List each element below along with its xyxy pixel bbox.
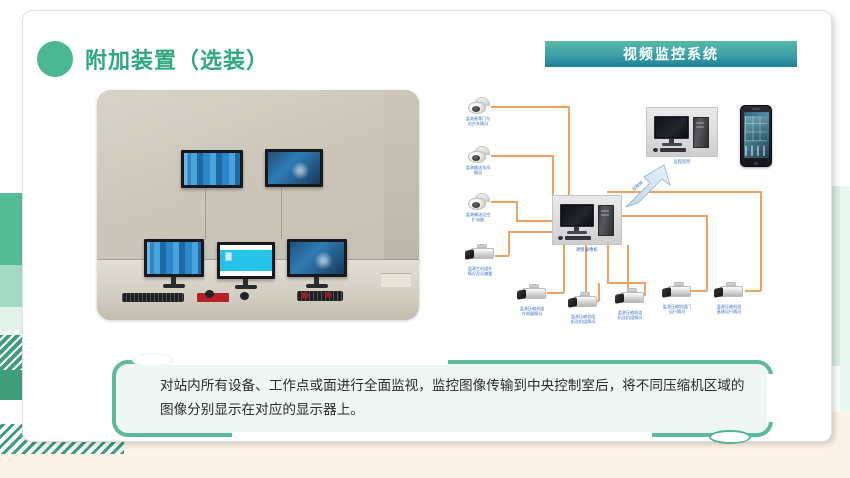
central-nvr-label: 硬盘录像机	[552, 247, 622, 252]
nvr-mouse	[558, 236, 563, 240]
title-bullet-icon	[37, 41, 73, 77]
remote-monitor	[654, 116, 689, 139]
wire-right-branch-v	[760, 191, 762, 291]
nvr-monitor	[560, 204, 594, 227]
wire-cam3-v	[516, 201, 518, 221]
photo-keyboard-1	[122, 293, 184, 302]
wire-cam1-h	[491, 106, 569, 108]
photo-desk-monitor-2-screen	[220, 245, 272, 276]
caption-text: 对站内所有设备、工作点或面进行全面监视，监控图像传输到中央控制室后，将不同压缩机…	[160, 374, 747, 422]
slide-canvas: 附加装置（选装） 视频监控系统	[0, 0, 850, 478]
caption-decor-ellipse-bottom	[709, 430, 751, 444]
phone-home-button	[754, 162, 759, 165]
central-nvr-workstation	[552, 195, 622, 245]
camera-bullet-bottom-5: 监测压缩机组 基建运行情况	[714, 285, 744, 300]
caption-frame-gap-right	[767, 374, 777, 422]
photo-monitor-3-base	[306, 284, 328, 288]
camera-bullet-bottom-3-label: 监测压缩机组 机及机组情况	[618, 310, 643, 321]
surveillance-topology-diagram: 监测备零门与 站台车情况 监测输送车间 情况 监测输送运空	[455, 93, 815, 341]
photo-desk-monitor-3	[287, 239, 347, 277]
photo-mouse-2	[240, 292, 249, 300]
phone-screen	[744, 112, 769, 158]
dome-camera-icon	[465, 193, 491, 211]
nvr-tower	[598, 205, 614, 236]
camera-dome-3: 监测输送运空 扩站器	[465, 193, 491, 211]
remote-keyboard	[660, 148, 686, 152]
camera-bullet-bottom-2-label: 监测压缩机组 机及机组情况	[571, 314, 596, 325]
camera-dome-3-label: 监测输送运空 扩站器	[466, 212, 491, 223]
photo-tv-cable-right	[281, 187, 282, 239]
mobile-monitor-phone	[740, 105, 772, 167]
dome-camera-icon	[465, 146, 491, 164]
wire-cam4-v	[508, 231, 510, 255]
camera-bullet-bottom-4-label: 监测压缩机组门 运行情况	[663, 304, 692, 315]
camera-dome-1-label: 监测备零门与 站台车情况	[466, 116, 491, 127]
remote-monitor-base	[662, 143, 682, 146]
camera-bullet-bottom-1-label: 监测压缩机组 冷却器情况	[520, 306, 545, 317]
page-title: 附加装置（选装）	[85, 43, 269, 75]
wire-bottom1-v	[563, 245, 565, 293]
nvr-monitor-base	[567, 231, 587, 234]
camera-dome-2: 监测输送车间 情况	[465, 146, 491, 164]
photo-monitor-1-base	[163, 284, 185, 288]
photo-mouse-1	[205, 290, 214, 298]
wire-bottom1-h	[547, 292, 564, 294]
phone-camera-grid	[745, 116, 767, 141]
camera-bullet-left-4-label: 监测主机组外 情况及运输量	[468, 266, 493, 277]
photo-monitor-2-base	[235, 285, 257, 289]
caption-frame-gap-top	[148, 356, 448, 365]
caption-decor-ellipse-top	[132, 353, 174, 367]
wire-bottom3-h	[607, 282, 645, 284]
nvr-keyboard	[565, 236, 591, 240]
remote-tower	[693, 117, 709, 148]
photo-desk-monitor-1-screen	[147, 242, 201, 274]
camera-bullet-bottom-3: 监测压缩机组 机及机组情况	[615, 291, 645, 306]
remote-monitor-screen	[656, 118, 687, 137]
control-room-photo	[97, 90, 419, 320]
wire-bottom4-v	[706, 215, 708, 291]
camera-dome-1: 监测备零门与 站台车情况	[465, 97, 491, 115]
bullet-camera-icon	[714, 285, 744, 300]
bullet-camera-icon	[615, 291, 645, 306]
photo-wall-tv-right-screen	[268, 152, 320, 184]
wire-right-branch-h2	[745, 290, 761, 292]
phone-dock-bar	[745, 146, 767, 156]
camera-bullet-left-4: 监测主机组外 情况及运输量	[465, 247, 495, 262]
wire-cam2-h	[491, 155, 553, 157]
section-banner-label: 视频监控系统	[623, 44, 719, 64]
section-banner: 视频监控系统	[545, 41, 797, 67]
decor-band-right-pale-outer	[840, 186, 850, 436]
photo-desk-monitor-2	[217, 242, 275, 279]
camera-dome-2-label: 监测输送车间 情况	[466, 165, 491, 176]
wire-bottom5-v	[627, 245, 629, 291]
photo-desk-monitor-3-screen	[290, 242, 344, 274]
wire-bottom2-v2	[598, 283, 600, 301]
bullet-camera-icon	[568, 295, 598, 310]
bullet-camera-icon	[662, 285, 692, 300]
wire-cam4-h	[495, 255, 509, 257]
caption-frame-gap-bottom	[232, 432, 652, 441]
camera-bullet-bottom-4: 监测压缩机组门 运行情况	[662, 285, 692, 300]
photo-wall-tv-left	[181, 150, 243, 188]
wire-cam3-h	[491, 201, 517, 203]
photo-monitor-2-window	[225, 252, 232, 261]
photo-wall-tv-right	[265, 149, 323, 187]
nvr-monitor-screen	[562, 206, 592, 225]
remote-mouse	[653, 148, 658, 152]
camera-bullet-bottom-5-label: 监测压缩机组 基建运行情况	[717, 304, 742, 315]
photo-console-button-1	[301, 292, 309, 299]
photo-tv-cable-left	[205, 188, 206, 240]
phone-speaker-icon	[752, 108, 760, 110]
bullet-camera-icon	[465, 247, 495, 262]
slide-card: 附加装置（选装） 视频监控系统	[22, 10, 832, 442]
wire-bottom4-h	[607, 215, 707, 217]
photo-wall-tv-left-screen	[184, 153, 240, 185]
camera-bullet-bottom-1: 监测压缩机组 冷却器情况	[517, 287, 547, 302]
photo-desk-monitor-1	[144, 239, 204, 277]
camera-bullet-bottom-2: 监测压缩机组 机及机组情况	[568, 295, 598, 310]
wire-bottom4-h2	[691, 290, 707, 292]
dome-camera-icon	[465, 97, 491, 115]
photo-books	[381, 273, 411, 287]
caption-callout: 对站内所有设备、工作点或面进行全面监视，监控图像传输到中央控制室后，将不同压缩机…	[112, 360, 773, 437]
remote-monitor-workstation	[646, 107, 718, 157]
bullet-camera-icon	[517, 287, 547, 302]
photo-console-button-2	[325, 292, 332, 298]
photo-wall-right	[384, 90, 419, 265]
